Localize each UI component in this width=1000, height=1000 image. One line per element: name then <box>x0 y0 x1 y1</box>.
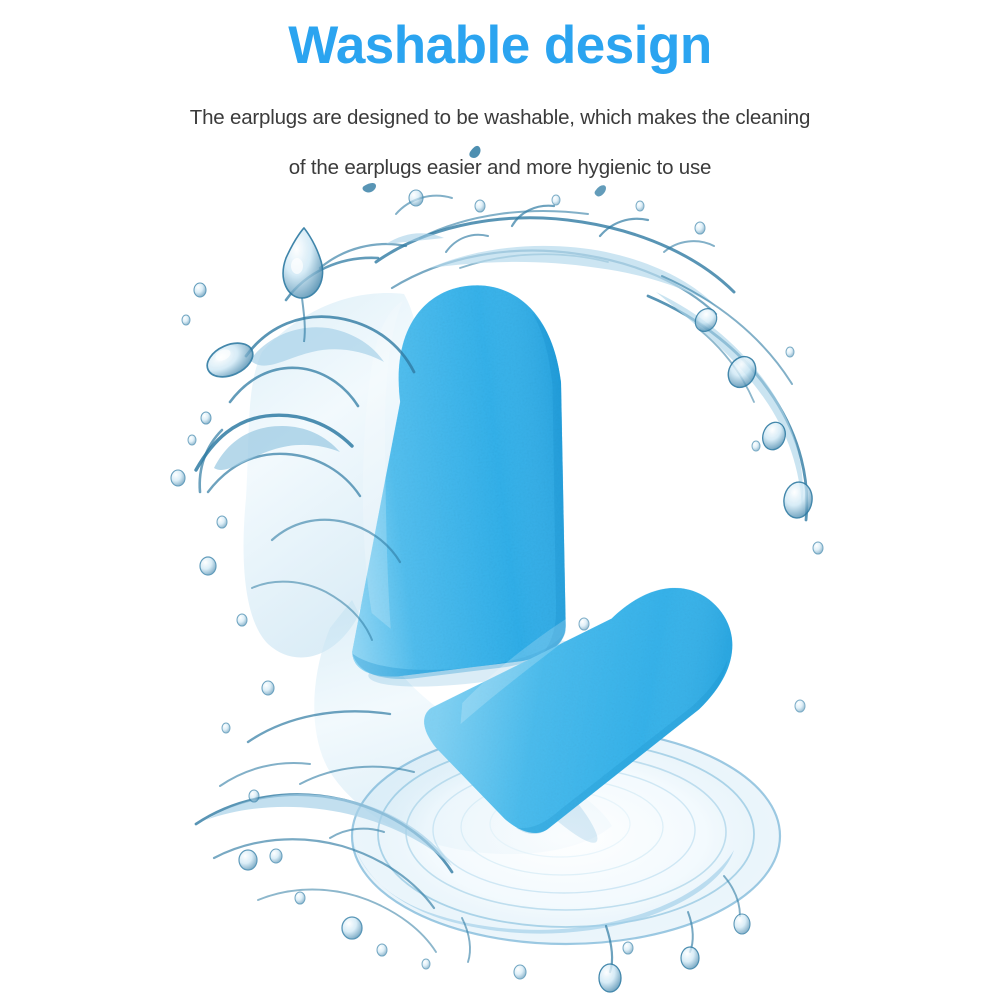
droplet <box>579 618 589 630</box>
header-block: Washable design The earplugs are designe… <box>0 0 1000 200</box>
droplet <box>262 681 274 695</box>
droplet <box>475 200 485 212</box>
droplet-left-lobe <box>202 337 258 384</box>
droplet <box>239 850 257 870</box>
splash-arc-top <box>376 196 734 314</box>
droplet <box>194 283 206 297</box>
droplet <box>795 700 805 712</box>
droplet <box>182 315 190 325</box>
product-feature-image: Washable design The earplugs are designe… <box>0 0 1000 1000</box>
subtitle-line-1: The earplugs are designed to be washable… <box>0 93 1000 143</box>
droplet <box>171 470 185 486</box>
droplet <box>377 944 387 956</box>
subtitle-line-2: of the earplugs easier and more hygienic… <box>0 143 1000 193</box>
droplet <box>813 542 823 554</box>
droplet <box>514 965 526 979</box>
droplet <box>188 435 196 445</box>
droplet <box>786 347 794 357</box>
droplet <box>217 516 227 528</box>
droplet <box>237 614 247 626</box>
droplet <box>695 222 705 234</box>
droplet <box>270 849 282 863</box>
page-subtitle: The earplugs are designed to be washable… <box>0 77 1000 193</box>
droplet <box>342 917 362 939</box>
droplet <box>201 412 211 424</box>
droplet <box>200 557 216 575</box>
droplet <box>295 892 305 904</box>
water-arc-right <box>648 276 814 520</box>
droplet <box>623 942 633 954</box>
droplet <box>636 201 644 211</box>
page-title: Washable design <box>0 0 1000 77</box>
droplet <box>249 790 259 802</box>
droplet <box>752 441 760 451</box>
droplet <box>422 959 430 969</box>
droplet <box>222 723 230 733</box>
